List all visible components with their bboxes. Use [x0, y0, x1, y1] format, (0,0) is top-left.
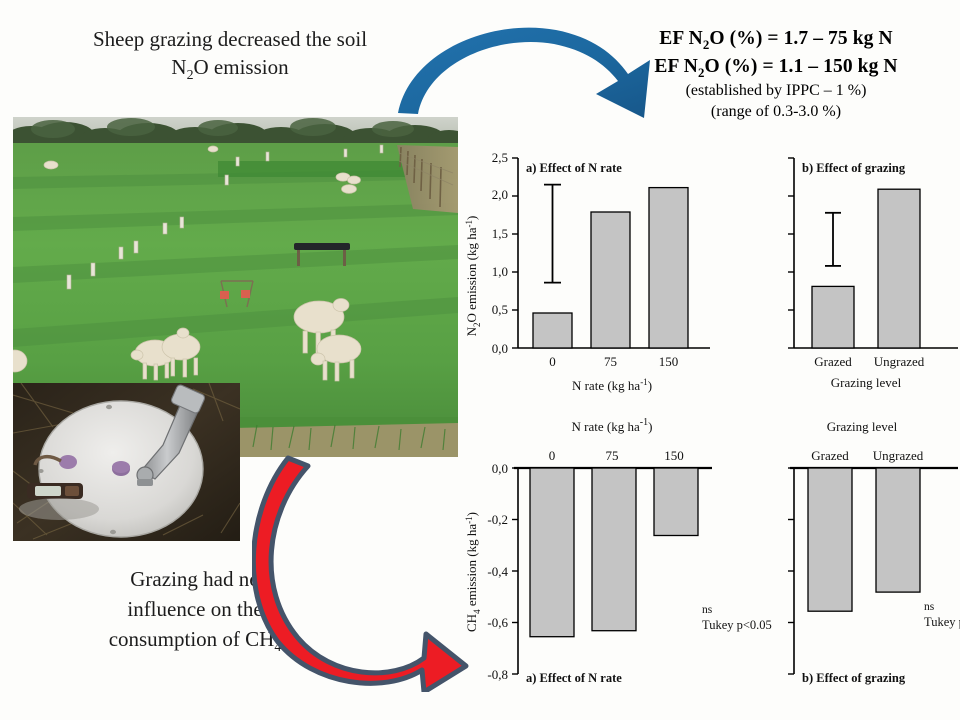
- blue-arrow-graphic: [382, 14, 672, 139]
- svg-text:Grazed: Grazed: [811, 448, 849, 463]
- headline-n2o-line2: N2O emission: [171, 55, 288, 79]
- n2o-bar-ungrazed: [878, 189, 920, 348]
- ch4-bar-n0: [530, 468, 574, 637]
- ch4-panel-b: Grazing level Grazed Ungrazed ns Tuke: [788, 419, 960, 685]
- n2o-panel-b-xticks: Grazed Ungrazed: [814, 354, 925, 369]
- chart-ch4-emission: CH4 emission (kg ha-1) 0,0 -0,2 -0,4 -0,…: [462, 412, 960, 704]
- ch4-panel-b-ns: ns: [924, 601, 935, 613]
- svg-text:2,0: 2,0: [492, 187, 508, 202]
- ch4-panel-a: N rate (kg ha-1) 0 75 150: [512, 417, 772, 685]
- svg-text:0,5: 0,5: [492, 302, 508, 317]
- n2o-y-tick-labels: 2,5 2,0 1,5 1,0 0,5 0,0: [492, 150, 508, 356]
- svg-text:-0,2: -0,2: [487, 512, 508, 527]
- n2o-panel-a-xlabel: N rate (kg ha-1): [572, 377, 652, 393]
- ch4-bar-n75: [592, 468, 636, 631]
- n2o-panel-b-label: b) Effect of grazing: [802, 161, 906, 175]
- gas-sampling-chamber-photo: [13, 383, 240, 541]
- svg-text:0: 0: [549, 448, 556, 463]
- n2o-errorbar-n0: [544, 185, 561, 283]
- svg-text:0: 0: [549, 354, 556, 369]
- svg-text:75: 75: [604, 354, 617, 369]
- svg-text:-0,6: -0,6: [487, 615, 508, 630]
- svg-text:-0,4: -0,4: [487, 564, 508, 579]
- n2o-y-axis-label: N2O emission (kg ha-1): [464, 216, 482, 337]
- red-curved-arrow: [252, 442, 487, 692]
- ch4-panel-a-xlabel: N rate (kg ha-1): [572, 417, 653, 434]
- n2o-errorbar-grazed: [825, 213, 841, 266]
- chart-ch4-svg: CH4 emission (kg ha-1) 0,0 -0,2 -0,4 -0,…: [462, 412, 960, 704]
- n2o-bar-n150: [649, 188, 688, 348]
- ch4-panel-b-label: b) Effect of grazing: [802, 671, 906, 685]
- svg-text:1,5: 1,5: [492, 226, 508, 241]
- slide-canvas: Sheep grazing decreased the soil N2O emi…: [0, 0, 960, 720]
- red-arrow-graphic: [252, 442, 487, 692]
- headline-n2o: Sheep grazing decreased the soil N2O emi…: [30, 26, 430, 84]
- headline-n2o-line1: Sheep grazing decreased the soil: [93, 27, 367, 51]
- svg-text:150: 150: [659, 354, 679, 369]
- svg-text:-0,8: -0,8: [487, 667, 508, 682]
- ch4-panel-b-xticks: Grazed Ungrazed: [811, 448, 924, 463]
- n2o-bar-n0: [533, 313, 572, 348]
- ch4-bar-ungrazed: [876, 468, 920, 592]
- svg-text:2,5: 2,5: [492, 150, 508, 165]
- ch4-panel-b-xlabel: Grazing level: [827, 419, 898, 434]
- blue-curved-arrow: [382, 14, 672, 139]
- ch4-y-tick-labels: 0,0 -0,2 -0,4 -0,6 -0,8: [487, 461, 508, 682]
- svg-text:75: 75: [606, 448, 619, 463]
- svg-text:1,0: 1,0: [492, 264, 508, 279]
- n2o-panel-b: b) Effect of grazing Grazed Ungrazed Gra…: [788, 158, 958, 390]
- ch4-bar-grazed: [808, 468, 852, 611]
- n2o-panel-b-xlabel: Grazing level: [831, 375, 902, 390]
- ch4-panel-a-xticks: 0 75 150: [549, 448, 684, 463]
- ch4-panel-b-tukey: Tukey p<0.05: [924, 615, 960, 629]
- chamber-photo-graphic: [13, 383, 240, 541]
- chart-n2o-svg: N2O emission (kg ha-1) 2,5 2,0 1,5 1,0 0…: [462, 148, 960, 398]
- svg-text:Ungrazed: Ungrazed: [874, 354, 925, 369]
- n2o-panel-a-xticks: 0 75 150: [549, 354, 678, 369]
- ch4-panel-a-tukey: Tukey p<0.05: [702, 618, 772, 632]
- svg-text:0,0: 0,0: [492, 341, 508, 356]
- svg-text:150: 150: [664, 448, 684, 463]
- n2o-panel-a: a) Effect of N rate 0 75 150 N rate (kg …: [512, 158, 710, 393]
- svg-text:Ungrazed: Ungrazed: [873, 448, 924, 463]
- n2o-panel-a-label: a) Effect of N rate: [526, 161, 622, 175]
- subscript-2: 2: [187, 67, 194, 82]
- svg-text:0,0: 0,0: [492, 461, 508, 476]
- n2o-bar-n75: [591, 212, 630, 348]
- n2o-bar-grazed: [812, 286, 854, 348]
- svg-text:Grazed: Grazed: [814, 354, 852, 369]
- chart-n2o-emission: N2O emission (kg ha-1) 2,5 2,0 1,5 1,0 0…: [462, 148, 960, 398]
- ch4-bar-n150: [654, 468, 698, 536]
- ch4-panel-a-ns: ns: [702, 604, 713, 616]
- ch4-panel-a-label: a) Effect of N rate: [526, 671, 622, 685]
